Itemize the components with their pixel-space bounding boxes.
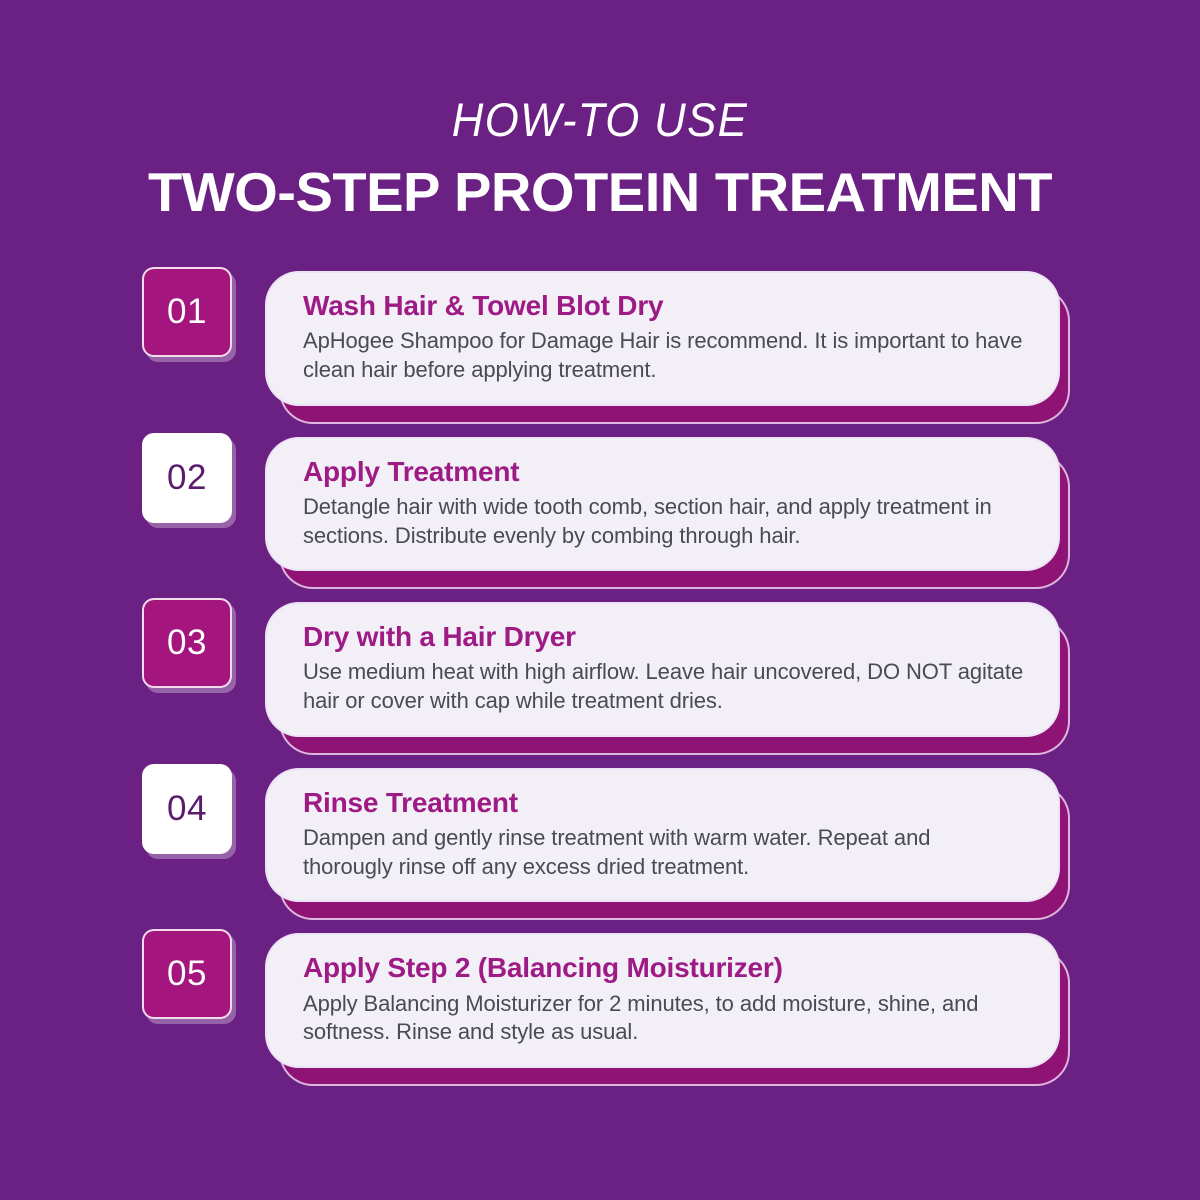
step-card: Wash Hair & Towel Blot Dry ApHogee Shamp…	[265, 271, 1060, 406]
step-description: Dampen and gently rinse treatment with w…	[303, 824, 1024, 881]
step-card: Apply Treatment Detangle hair with wide …	[265, 437, 1060, 572]
list-item: 01 Wash Hair & Towel Blot Dry ApHogee Sh…	[142, 267, 1060, 406]
step-title: Wash Hair & Towel Blot Dry	[303, 290, 1024, 321]
steps-list: 01 Wash Hair & Towel Blot Dry ApHogee Sh…	[0, 267, 1200, 1068]
step-badge-wrap: 01	[142, 267, 239, 357]
step-card-wrap: Apply Treatment Detangle hair with wide …	[265, 437, 1060, 572]
page-title: TWO-STEP PROTEIN TREATMENT	[0, 165, 1200, 220]
list-item: 03 Dry with a Hair Dryer Use medium heat…	[142, 598, 1060, 737]
step-badge-wrap: 03	[142, 598, 239, 688]
step-number-badge: 02	[142, 433, 232, 523]
poster-eyebrow: HOW-TO USE	[42, 96, 1158, 143]
step-card: Dry with a Hair Dryer Use medium heat wi…	[265, 602, 1060, 737]
step-title: Rinse Treatment	[303, 787, 1024, 818]
step-card-wrap: Wash Hair & Towel Blot Dry ApHogee Shamp…	[265, 271, 1060, 406]
step-badge-wrap: 04	[142, 764, 239, 854]
step-card: Apply Step 2 (Balancing Moisturizer) App…	[265, 933, 1060, 1068]
infographic-poster: HOW-TO USE TWO-STEP PROTEIN TREATMENT 01…	[0, 0, 1200, 1200]
list-item: 02 Apply Treatment Detangle hair with wi…	[142, 433, 1060, 572]
list-item: 04 Rinse Treatment Dampen and gently rin…	[142, 764, 1060, 903]
step-description: Apply Balancing Moisturizer for 2 minute…	[303, 990, 1024, 1047]
step-title: Apply Treatment	[303, 456, 1024, 487]
step-card-wrap: Rinse Treatment Dampen and gently rinse …	[265, 768, 1060, 903]
step-card-wrap: Apply Step 2 (Balancing Moisturizer) App…	[265, 933, 1060, 1068]
step-card: Rinse Treatment Dampen and gently rinse …	[265, 768, 1060, 903]
step-number-badge: 01	[142, 267, 232, 357]
poster-header: HOW-TO USE TWO-STEP PROTEIN TREATMENT	[0, 0, 1200, 220]
step-badge-wrap: 05	[142, 929, 239, 1019]
list-item: 05 Apply Step 2 (Balancing Moisturizer) …	[142, 929, 1060, 1068]
step-badge-wrap: 02	[142, 433, 239, 523]
step-title: Dry with a Hair Dryer	[303, 621, 1024, 652]
step-description: Use medium heat with high airflow. Leave…	[303, 658, 1024, 715]
step-card-wrap: Dry with a Hair Dryer Use medium heat wi…	[265, 602, 1060, 737]
step-number-badge: 05	[142, 929, 232, 1019]
step-description: Detangle hair with wide tooth comb, sect…	[303, 493, 1024, 550]
step-title: Apply Step 2 (Balancing Moisturizer)	[303, 952, 1024, 983]
step-number-badge: 03	[142, 598, 232, 688]
step-number-badge: 04	[142, 764, 232, 854]
step-description: ApHogee Shampoo for Damage Hair is recom…	[303, 327, 1024, 384]
